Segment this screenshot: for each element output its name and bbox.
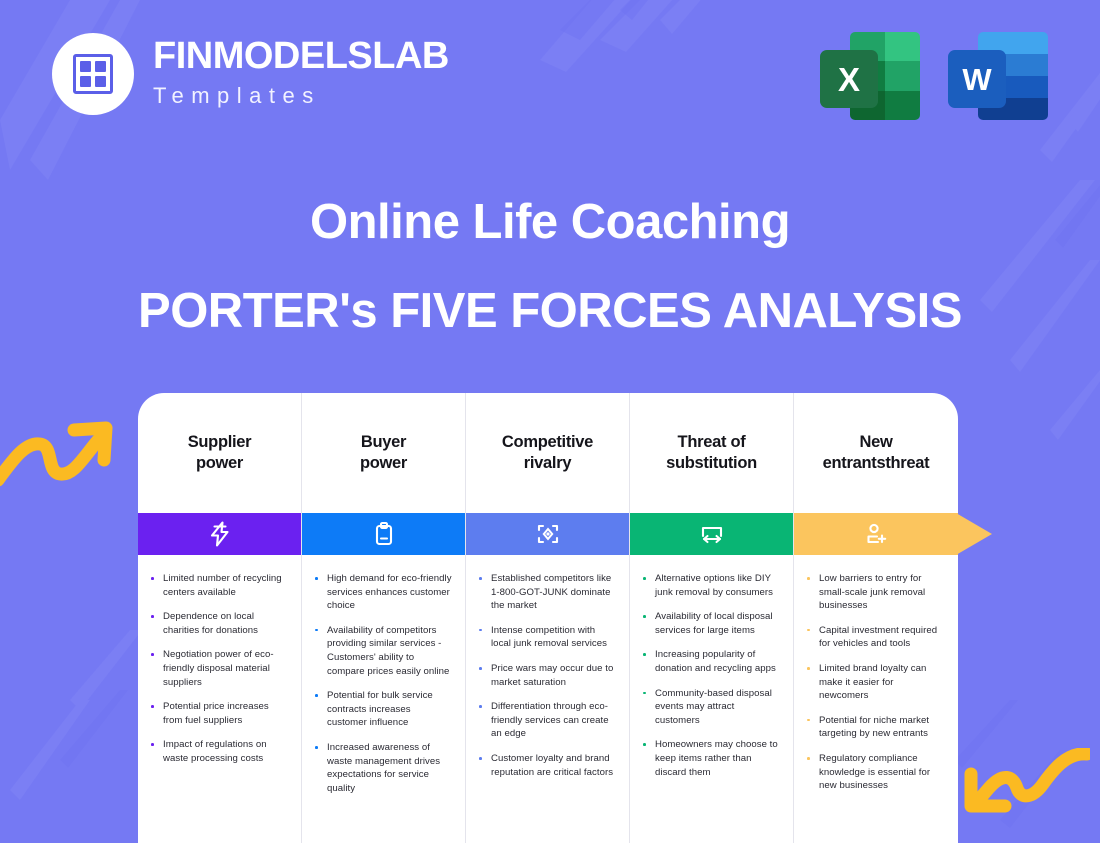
force-title-line2: power xyxy=(360,454,407,472)
list-item: Differentiation through eco-friendly ser… xyxy=(476,700,616,741)
focus-target-icon xyxy=(535,521,561,547)
list-item: Homeowners may choose to keep items rath… xyxy=(640,738,780,779)
list-item: Impact of regulations on waste processin… xyxy=(148,738,288,765)
list-item: Potential for niche market targeting by … xyxy=(804,714,945,741)
band-arrow-head-icon xyxy=(956,513,992,555)
bullet-list: Low barriers to entry for small-scale ju… xyxy=(804,572,945,793)
excel-icon: X xyxy=(820,28,920,120)
file-format-icons: X W xyxy=(820,28,1048,120)
word-icon-letter: W xyxy=(962,64,991,95)
force-title-line2: substitution xyxy=(666,454,757,472)
page-title: Online Life Coaching xyxy=(0,198,1100,247)
list-item: Dependence on local charities for donati… xyxy=(148,610,288,637)
list-item: Limited brand loyalty can make it easier… xyxy=(804,662,945,703)
force-title-line1: Threat of xyxy=(678,433,746,451)
force-header-buyer-power: Buyer power xyxy=(302,393,465,513)
force-band-new-entrants-threat xyxy=(794,513,958,555)
list-item: Potential price increases from fuel supp… xyxy=(148,700,288,727)
force-body-supplier-power: Limited number of recycling centers avai… xyxy=(138,555,301,843)
list-item: Intense competition with local junk remo… xyxy=(476,624,616,651)
lightning-bolt-icon xyxy=(208,521,232,547)
squiggly-arrow-down-left-icon xyxy=(955,748,1090,833)
force-title-line1: New xyxy=(859,433,892,451)
force-body-buyer-power: High demand for eco-friendly services en… xyxy=(302,555,465,843)
clipboard-icon xyxy=(372,521,396,547)
force-body-competitive-rivalry: Established competitors like 1-800-GOT-J… xyxy=(466,555,629,843)
brand-name: FINMODELSLAB xyxy=(153,37,449,75)
force-column-competitive-rivalry: Competitive rivalry Established competit… xyxy=(466,393,630,843)
list-item: Increasing popularity of donation and re… xyxy=(640,648,780,675)
bullet-list: Alternative options like DIY junk remova… xyxy=(640,572,780,779)
force-band-competitive-rivalry xyxy=(466,513,629,555)
word-icon: W xyxy=(948,28,1048,120)
force-title-line2: entrantsthreat xyxy=(823,454,930,472)
bullet-list: High demand for eco-friendly services en… xyxy=(312,572,452,796)
poster-canvas: FINMODELSLAB Templates X W Online Life C… xyxy=(0,0,1100,843)
brand-tagline: Templates xyxy=(153,79,449,112)
list-item: Potential for bulk service contracts inc… xyxy=(312,689,452,730)
list-item: Regulatory compliance knowledge is essen… xyxy=(804,752,945,793)
force-band-buyer-power xyxy=(302,513,465,555)
list-item: Availability of local disposal services … xyxy=(640,610,780,637)
force-body-threat-of-substitution: Alternative options like DIY junk remova… xyxy=(630,555,793,843)
force-title-line2: power xyxy=(196,454,243,472)
list-item: Capital investment required for vehicles… xyxy=(804,624,945,651)
list-item: Customer loyalty and brand reputation ar… xyxy=(476,752,616,779)
force-band-threat-of-substitution xyxy=(630,513,793,555)
grid-squares-icon xyxy=(52,33,134,115)
force-header-threat-of-substitution: Threat of substitution xyxy=(630,393,793,513)
force-column-buyer-power: Buyer power High demand for eco-friendly… xyxy=(302,393,466,843)
force-header-competitive-rivalry: Competitive rivalry xyxy=(466,393,629,513)
add-user-icon xyxy=(863,521,889,547)
bullet-list: Limited number of recycling centers avai… xyxy=(148,572,288,766)
exchange-arrows-icon xyxy=(699,522,725,546)
force-title-line1: Supplier xyxy=(188,433,252,451)
forces-grid: Supplier power Limited number of recycli… xyxy=(138,393,958,843)
list-item: Established competitors like 1-800-GOT-J… xyxy=(476,572,616,613)
bullet-list: Established competitors like 1-800-GOT-J… xyxy=(476,572,616,779)
list-item: High demand for eco-friendly services en… xyxy=(312,572,452,613)
list-item: Limited number of recycling centers avai… xyxy=(148,572,288,599)
list-item: Availability of competitors providing si… xyxy=(312,624,452,678)
excel-icon-letter: X xyxy=(838,63,860,96)
force-column-supplier-power: Supplier power Limited number of recycli… xyxy=(138,393,302,843)
force-band-supplier-power xyxy=(138,513,301,555)
list-item: Increased awareness of waste management … xyxy=(312,741,452,795)
force-header-new-entrants-threat: New entrantsthreat xyxy=(794,393,958,513)
force-title-line1: Competitive xyxy=(502,433,593,451)
title-block: Online Life Coaching PORTER's FIVE FORCE… xyxy=(0,198,1100,336)
list-item: Community-based disposal events may attr… xyxy=(640,687,780,728)
force-title-line2: rivalry xyxy=(524,454,571,472)
force-column-threat-of-substitution: Threat of substitution Alternative optio… xyxy=(630,393,794,843)
list-item: Negotiation power of eco-friendly dispos… xyxy=(148,648,288,689)
page-subtitle: PORTER's FIVE FORCES ANALYSIS xyxy=(0,287,1100,336)
list-item: Alternative options like DIY junk remova… xyxy=(640,572,780,599)
force-column-new-entrants-threat: New entrantsthreat Low barriers to entry… xyxy=(794,393,958,843)
list-item: Low barriers to entry for small-scale ju… xyxy=(804,572,945,613)
squiggly-arrow-up-right-icon xyxy=(0,408,124,488)
brand-logo: FINMODELSLAB Templates xyxy=(52,33,449,115)
list-item: Price wars may occur due to market satur… xyxy=(476,662,616,689)
force-header-supplier-power: Supplier power xyxy=(138,393,301,513)
five-forces-card: Supplier power Limited number of recycli… xyxy=(138,393,958,843)
force-title-line1: Buyer xyxy=(361,433,406,451)
force-body-new-entrants-threat: Low barriers to entry for small-scale ju… xyxy=(794,555,958,843)
